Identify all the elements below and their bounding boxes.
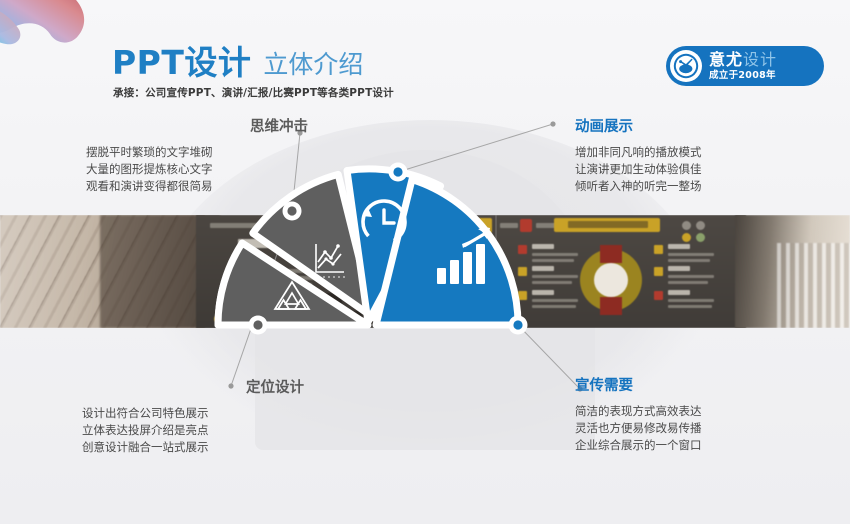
- block-dingwei-line-1: 设计出符合公司特色展示: [82, 405, 304, 422]
- block-siwei-line-3: 观看和演讲变得都很简易: [86, 178, 308, 195]
- band-fade-overlay: [0, 215, 850, 328]
- block-donghua-line-1: 增加非同凡响的播放模式: [575, 144, 795, 161]
- block-xuanchuan-heading: 宣传需要: [575, 379, 797, 394]
- page-subtitle: 立体介绍: [263, 52, 363, 79]
- header: PPT设计 立体介绍 承接：公司宣传PPT、演讲/汇报/比赛PPT等各类PPT设…: [0, 0, 850, 112]
- block-dingwei-line-3: 创意设计融合一站式展示: [82, 439, 304, 456]
- header-description: 承接：公司宣传PPT、演讲/汇报/比赛PPT等各类PPT设计: [113, 85, 394, 100]
- brand-logo-badge[interactable]: 意尤设计 成立于2008年: [666, 46, 824, 86]
- block-donghua-heading: 动画展示: [575, 120, 795, 135]
- block-donghua-line-2: 让演讲更加生动体验俱佳: [575, 161, 795, 178]
- block-donghua-line-3: 倾听者入神的听完一整场: [575, 178, 795, 195]
- mouse-logo-icon: [670, 50, 702, 82]
- block-donghua: 动画展示 增加非同凡响的播放模式 让演讲更加生动体验俱佳 倾听者入神的听完一整场: [575, 120, 795, 195]
- block-xuanchuan-line-3: 企业综合展示的一个窗口: [575, 437, 797, 454]
- logo-established: 成立于2008年: [709, 71, 777, 81]
- block-xuanchuan: 宣传需要 简洁的表现方式高效表达 灵活也方便易修改易传播 企业综合展示的一个窗口: [575, 379, 797, 454]
- block-siwei: 思维冲击 摆脱平时繁琐的文字堆砌 大量的图形提炼核心文字 观看和演讲变得都很简易: [86, 120, 308, 195]
- logo-name: 意尤设计: [709, 50, 777, 69]
- title-row: PPT设计 立体介绍: [112, 46, 363, 79]
- page-title: PPT设计: [112, 46, 251, 79]
- block-dingwei-line-2: 立体表达投屏介绍是亮点: [82, 422, 304, 439]
- block-siwei-line-2: 大量的图形提炼核心文字: [86, 161, 308, 178]
- block-siwei-line-1: 摆脱平时繁琐的文字堆砌: [86, 144, 308, 161]
- block-xuanchuan-line-2: 灵活也方便易修改易传播: [575, 420, 797, 437]
- background-photo-band: [0, 215, 850, 328]
- logo-text: 意尤设计 成立于2008年: [709, 52, 777, 81]
- block-dingwei-heading: 定位设计: [82, 381, 304, 396]
- block-siwei-heading: 思维冲击: [86, 120, 308, 135]
- slide-canvas: PPT设计 立体介绍 承接：公司宣传PPT、演讲/汇报/比赛PPT等各类PPT设…: [0, 0, 850, 524]
- block-dingwei: 定位设计 设计出符合公司特色展示 立体表达投屏介绍是亮点 创意设计融合一站式展示: [82, 381, 304, 456]
- block-xuanchuan-line-1: 简洁的表现方式高效表达: [575, 403, 797, 420]
